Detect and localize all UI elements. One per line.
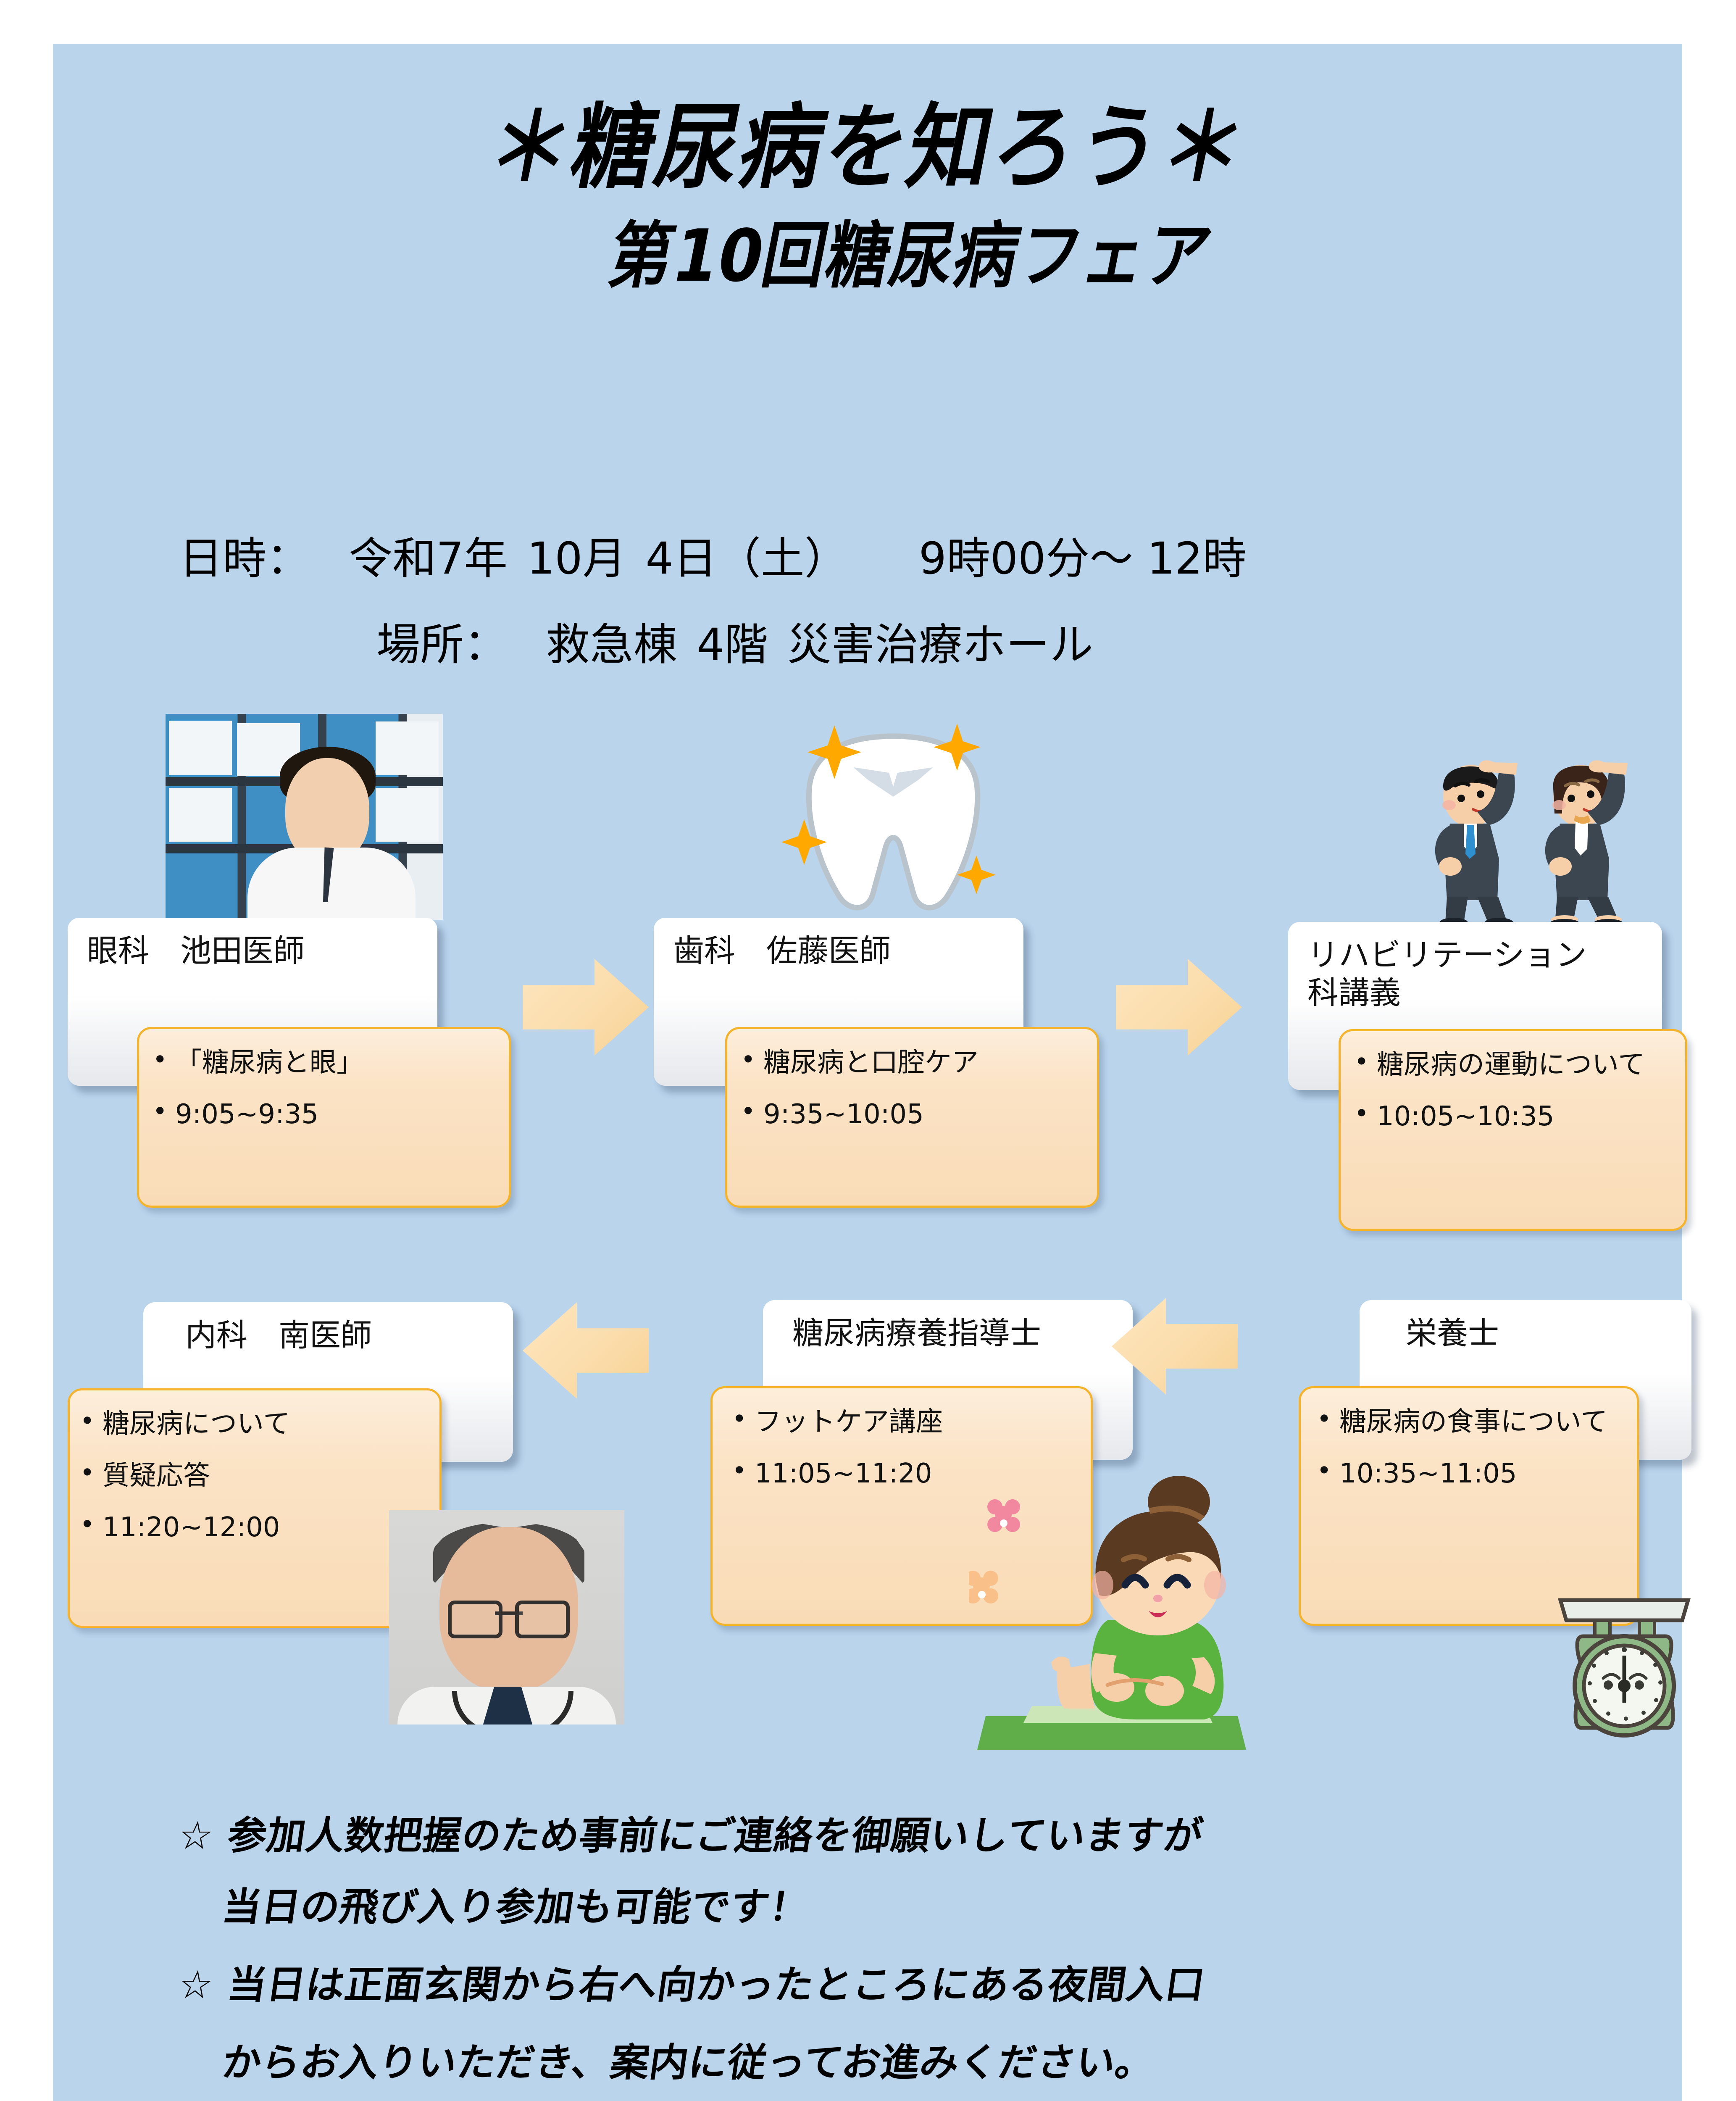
session-title: 内科 南医師 (185, 1316, 372, 1354)
location-building: 救急棟 (546, 619, 677, 670)
datetime-time: 9時00分〜 12時 (919, 533, 1247, 584)
flow-arrow-4 (523, 1302, 649, 1399)
session-time: 11:20~12:00 (103, 1508, 429, 1547)
session-time: 9:05~9:35 (175, 1095, 498, 1134)
footcare-woman-illustration (969, 1472, 1263, 1750)
notice-line-1: ☆参加人数把握のため事前にご連絡を御願いしていますが (175, 1804, 1207, 1860)
session-topic: フットケア講座 (755, 1403, 1080, 1442)
session-details-internal[interactable]: 糖尿病について 質疑応答 11:20~12:00 (68, 1388, 442, 1628)
stretching-people-illustration (1351, 699, 1662, 926)
event-location-line: 場所：救急棟4階災害治療ホール (376, 609, 1093, 672)
session-time: 9:35~10:05 (763, 1095, 1086, 1134)
event-datetime-line: 日時：令和7年10月4日（土）9時00分〜 12時 (179, 523, 1247, 586)
session-topic: 「糖尿病と眼」 (175, 1043, 498, 1082)
session-time: 10:05~10:35 (1377, 1097, 1674, 1136)
session-details-eye[interactable]: 「糖尿病と眼」 9:05~9:35 (137, 1027, 511, 1208)
kitchen-scale-illustration (1540, 1594, 1708, 1771)
notice-text: からお入りいただき、案内に従ってお進みください。 (219, 2040, 1157, 2085)
datetime-day: 4日（土） (646, 533, 848, 584)
poster-canvas: ＊糖尿病を知ろう＊ 第10回糖尿病フェア 日時：令和7年10月4日（土）9時00… (53, 44, 1682, 2101)
star-icon: ☆ (175, 1813, 217, 1858)
session-topic: 糖尿病について (103, 1405, 429, 1444)
notice-line-3: ☆当日は正面玄関から右へ向かったところにある夜間入口 (175, 1954, 1209, 2009)
datetime-month: 10月 (527, 533, 626, 584)
doctor-female-photo (166, 714, 443, 920)
session-topic: 糖尿病の運動について (1377, 1045, 1674, 1085)
doctor-male-photo (389, 1510, 624, 1725)
location-room: 災害治療ホール (787, 619, 1093, 670)
page-subtitle: 第10回糖尿病フェア (131, 198, 1692, 302)
notice-text: 当日は正面玄関から右へ向かったところにある夜間入口 (225, 1962, 1208, 2007)
datetime-era: 令和7年 (349, 533, 508, 584)
location-floor: 4階 (697, 619, 768, 670)
tooth-sparkle-illustration (767, 699, 1019, 922)
session-time: 10:35~11:05 (1339, 1454, 1626, 1493)
session-title: リハビリテーション 科講義 (1307, 936, 1587, 1012)
session-title: 眼科 池田医師 (87, 932, 305, 970)
flow-arrow-2 (1116, 959, 1242, 1056)
page-title: ＊糖尿病を知ろう＊ (44, 102, 1691, 194)
notice-text: 参加人数把握のため事前にご連絡を御願いしていますが (225, 1813, 1206, 1858)
location-label: 場所： (376, 619, 508, 670)
session-title: 糖尿病療養指導士 (792, 1314, 1041, 1352)
session-topic: 糖尿病と口腔ケア (763, 1043, 1086, 1082)
poster-title-block: ＊糖尿病を知ろう＊ 第10回糖尿病フェア (53, 107, 1682, 295)
session-details-nutrition[interactable]: 糖尿病の食事について 10:35~11:05 (1299, 1386, 1639, 1626)
session-topic: 糖尿病の食事について (1339, 1403, 1626, 1442)
session-details-dental[interactable]: 糖尿病と口腔ケア 9:35~10:05 (725, 1027, 1099, 1208)
notice-text: 当日の飛び入り参加も可能です！ (219, 1885, 812, 1930)
session-title: 歯科 佐藤医師 (673, 932, 891, 970)
star-icon: ☆ (175, 1962, 217, 2007)
session-qa: 質疑応答 (103, 1456, 429, 1495)
notice-line-2: 当日の飛び入り参加も可能です！ (219, 1876, 813, 1932)
notice-line-4: からお入りいただき、案内に従ってお進みください。 (219, 2031, 1159, 2087)
flow-arrow-1 (523, 959, 649, 1056)
datetime-label: 日時： (179, 533, 310, 584)
session-title: 栄養士 (1406, 1314, 1499, 1352)
session-details-rehab[interactable]: 糖尿病の運動について 10:05~10:35 (1339, 1029, 1687, 1231)
